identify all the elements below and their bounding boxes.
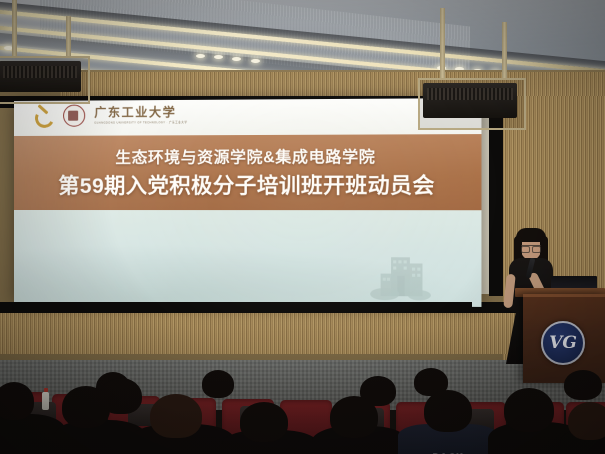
university-seal-icon <box>63 105 85 127</box>
projector-body <box>0 61 81 92</box>
slide-title-line-2: 第59期入党积极分子培训班开班动员会 <box>58 169 435 200</box>
downlight-icon <box>196 54 205 58</box>
audience-head <box>568 402 605 440</box>
downlight-icon <box>214 55 223 59</box>
slide-body <box>14 210 481 307</box>
slide-logo-row: 广东工业大学 GUANGDONG UNIVERSITY OF TECHNOLOG… <box>32 104 187 127</box>
audience-head <box>202 370 234 398</box>
audience-head <box>150 394 202 438</box>
university-subtitle: GUANGDONG UNIVERSITY OF TECHNOLOGY · 广东工… <box>94 120 187 124</box>
projector-mount-rod <box>12 0 17 58</box>
screen-frame <box>12 302 472 311</box>
downlight-icon <box>232 57 241 61</box>
audience-head <box>240 402 288 442</box>
projection-screen: 广东工业大学 GUANGDONG UNIVERSITY OF TECHNOLOG… <box>14 98 481 307</box>
projector-body <box>423 83 517 118</box>
slide-title-banner: 生态环境与资源学院&集成电路学院 第59期入党积极分子培训班开班动员会 <box>14 134 481 210</box>
projector-mount-rod <box>66 16 71 58</box>
projector-vent <box>427 88 513 100</box>
audience-head <box>62 386 110 428</box>
audience-seating: BACK <box>0 368 605 454</box>
university-name: 广东工业大学 <box>94 106 187 119</box>
projector-vent <box>3 66 77 78</box>
audience-head <box>424 390 472 432</box>
water-bottle <box>42 392 49 410</box>
downlight-icon <box>251 59 260 63</box>
wood-slat-panel-lower <box>0 312 530 354</box>
projector-mount-rod <box>440 8 445 80</box>
projector-right <box>418 78 522 126</box>
audience-head <box>330 396 378 438</box>
projector-mount-rod <box>502 22 507 80</box>
slide-title-line-1: 生态环境与资源学院&集成电路学院 <box>115 145 375 168</box>
eyeglasses-icon <box>521 245 541 251</box>
audience-head <box>0 382 34 420</box>
audience-head <box>504 388 554 432</box>
audience-head <box>564 370 602 400</box>
projector-left <box>0 56 86 100</box>
podium-emblem-icon: VG <box>541 321 585 365</box>
campus-building-watermark-icon <box>370 253 431 300</box>
auditorium-photo: 广东工业大学 GUANGDONG UNIVERSITY OF TECHNOLOG… <box>0 0 605 454</box>
podium-emblem-monogram: VG <box>549 335 577 352</box>
hammer-and-sickle-icon <box>32 105 54 127</box>
